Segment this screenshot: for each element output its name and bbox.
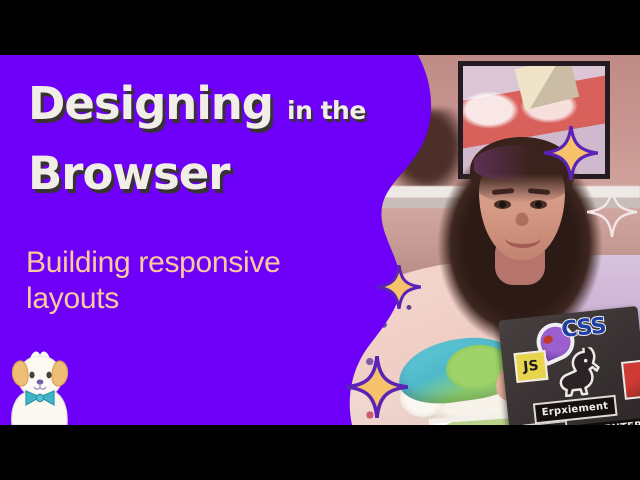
title-main-word: Designing (28, 81, 273, 126)
css-sticker: CSS (560, 314, 607, 343)
smile (505, 228, 541, 248)
red-sticker (621, 359, 640, 400)
title-line-2: Browser (28, 151, 229, 196)
nose (515, 212, 529, 226)
letterbox-bottom (0, 425, 640, 480)
erpxiement-sticker: Erpxiement (533, 395, 617, 425)
dinosaur-sticker (548, 346, 607, 399)
hair-front (470, 137, 574, 203)
subtitle-text: Building responsive layouts (26, 245, 356, 317)
title-small-word: in the (287, 98, 366, 123)
letterbox-top (0, 0, 640, 55)
eye-right (530, 200, 547, 209)
title-second-word: Browser (28, 147, 229, 200)
video-content-area: CSS JS Erpxiement CENTERED (0, 55, 640, 425)
dog-mascot-logo (4, 347, 76, 425)
js-sticker: JS (513, 350, 548, 383)
video-frame: CSS JS Erpxiement CENTERED (0, 0, 640, 480)
laptop-lid: CSS JS Erpxiement CENTERED (498, 306, 640, 425)
eye-left (494, 200, 511, 209)
title-line-1: Designing in the (28, 81, 366, 126)
